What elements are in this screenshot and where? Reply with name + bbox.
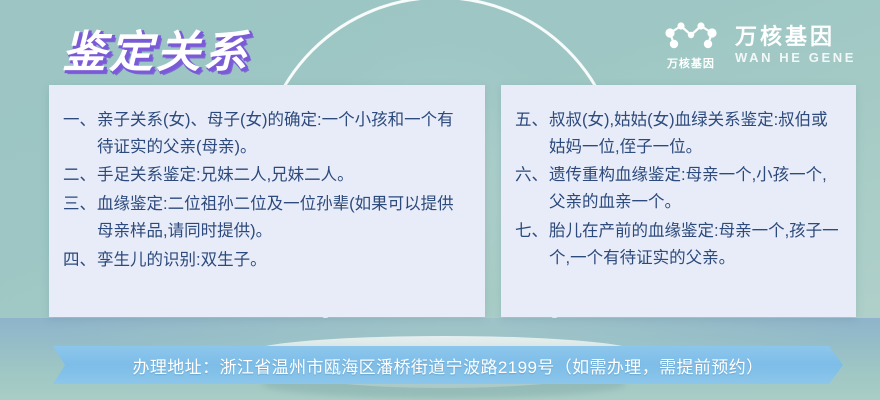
list-item-text: 遗传重构血缘鉴定:母亲一个,小孩一个,父亲的血亲一个。 [549,162,840,215]
list-item-number: 二、 [63,162,96,189]
list-item: 五、 叔叔(女),姑姑(女)血绿关系鉴定:叔伯或姑妈一位,侄子一位。 [515,107,840,160]
list-item: 二、 手足关系鉴定:兄妹二人,兄妹二人。 [63,162,469,189]
relations-card-left: 一、 亲子关系(女)、母子(女)的确定:一个小孩和一个有待证实的父亲(母亲)。 … [49,85,485,317]
list-item: 四、 孪生儿的识别:双生子。 [63,247,469,274]
address-text: 办理地址：浙江省温州市瓯海区潘桥街道宁波路2199号（如需办理，需提前预约） [132,353,763,378]
list-item-number: 四、 [63,247,96,274]
list-item-number: 六、 [515,162,548,189]
list-item-text: 手足关系鉴定:兄妹二人,兄妹二人。 [97,162,469,189]
brand-name-en: WAN HE GENE [735,51,856,65]
list-item-number: 一、 [63,107,96,134]
poster-root: 鉴定关系 [0,0,880,400]
list-item-text: 叔叔(女),姑姑(女)血绿关系鉴定:叔伯或姑妈一位,侄子一位。 [549,107,840,160]
list-item: 七、 胎儿在产前的血缘鉴定:母亲一个,孩子一个,一个有待证实的父亲。 [515,218,840,271]
list-item-number: 七、 [515,218,548,245]
brand-logo: 万核基因 万核基因 WAN HE GENE [661,20,856,71]
list-item-number: 三、 [63,191,96,218]
brand-wordmark: 万核基因 WAN HE GENE [735,25,856,65]
list-item: 一、 亲子关系(女)、母子(女)的确定:一个小孩和一个有待证实的父亲(母亲)。 [63,107,469,160]
dna-molecule-icon [661,20,721,52]
address-ribbon: 办理地址：浙江省温州市瓯海区潘桥街道宁波路2199号（如需办理，需提前预约） [53,346,843,384]
brand-mark-label: 万核基因 [667,55,715,71]
page-title: 鉴定关系 [62,16,250,80]
list-item: 六、 遗传重构血缘鉴定:母亲一个,小孩一个,父亲的血亲一个。 [515,162,840,215]
list-item: 三、 血缘鉴定:二位祖孙二位及一位孙辈(如果可以提供母亲样品,请同时提供)。 [63,191,469,244]
brand-name-cn: 万核基因 [735,25,856,49]
list-item-text: 胎儿在产前的血缘鉴定:母亲一个,孩子一个,一个有待证实的父亲。 [549,218,840,271]
list-item-text: 孪生儿的识别:双生子。 [97,247,469,274]
list-item-text: 血缘鉴定:二位祖孙二位及一位孙辈(如果可以提供母亲样品,请同时提供)。 [97,191,469,244]
brand-mark: 万核基因 [661,20,721,71]
relations-card-right: 五、 叔叔(女),姑姑(女)血绿关系鉴定:叔伯或姑妈一位,侄子一位。 六、 遗传… [501,85,856,317]
list-item-number: 五、 [515,107,548,134]
list-item-text: 亲子关系(女)、母子(女)的确定:一个小孩和一个有待证实的父亲(母亲)。 [97,107,469,160]
